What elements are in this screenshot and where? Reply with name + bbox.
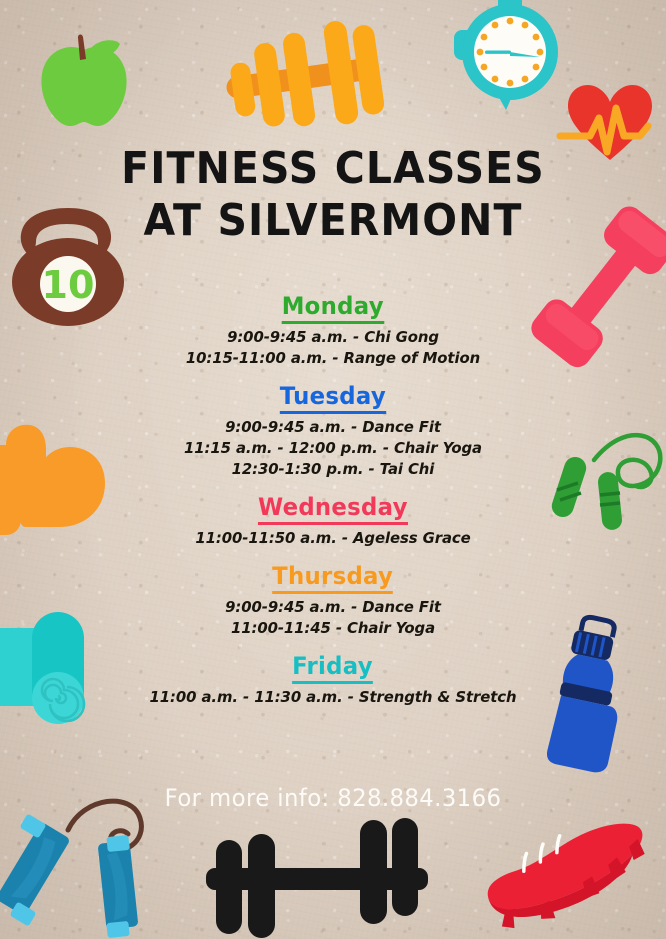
fitness-schedule-poster: 10 bbox=[0, 0, 666, 939]
day-heading-friday: Friday bbox=[293, 652, 374, 684]
day-block-friday: Friday11:00 a.m. - 11:30 a.m. - Strength… bbox=[0, 652, 666, 708]
class-entry: 11:15 a.m. - 12:00 p.m. - Chair Yoga bbox=[13, 438, 652, 459]
title-line-1: Fitness Classes bbox=[23, 143, 642, 195]
day-heading-wednesday: Wednesday bbox=[258, 493, 408, 525]
contact-footer: For more info: 828.884.3166 bbox=[17, 783, 650, 813]
day-block-thursday: Thursday9:00-9:45 a.m. - Dance Fit11:00-… bbox=[0, 562, 666, 639]
class-entry: 11:00 a.m. - 11:30 a.m. - Strength & Str… bbox=[13, 687, 652, 708]
class-entry: 11:00-11:45 - Chair Yoga bbox=[13, 618, 652, 639]
day-block-wednesday: Wednesday11:00-11:50 a.m. - Ageless Grac… bbox=[0, 493, 666, 549]
day-heading-tuesday: Tuesday bbox=[280, 382, 386, 414]
day-block-tuesday: Tuesday9:00-9:45 a.m. - Dance Fit11:15 a… bbox=[0, 382, 666, 480]
title-line-2: at Silvermont bbox=[23, 195, 642, 247]
class-entry: 9:00-9:45 a.m. - Chi Gong bbox=[13, 327, 652, 348]
class-entry: 9:00-9:45 a.m. - Dance Fit bbox=[13, 417, 652, 438]
day-heading-thursday: Thursday bbox=[272, 562, 393, 594]
class-entry: 9:00-9:45 a.m. - Dance Fit bbox=[13, 597, 652, 618]
page-title: Fitness Classes at Silvermont bbox=[23, 143, 642, 247]
class-entry: 12:30-1:30 p.m. - Tai Chi bbox=[13, 459, 652, 480]
class-entry: 11:00-11:50 a.m. - Ageless Grace bbox=[13, 528, 652, 549]
day-block-monday: Monday9:00-9:45 a.m. - Chi Gong10:15-11:… bbox=[0, 292, 666, 369]
class-entry: 10:15-11:00 a.m. - Range of Motion bbox=[13, 348, 652, 369]
schedule-list: Monday9:00-9:45 a.m. - Chi Gong10:15-11:… bbox=[0, 292, 666, 721]
day-heading-monday: Monday bbox=[282, 292, 384, 324]
